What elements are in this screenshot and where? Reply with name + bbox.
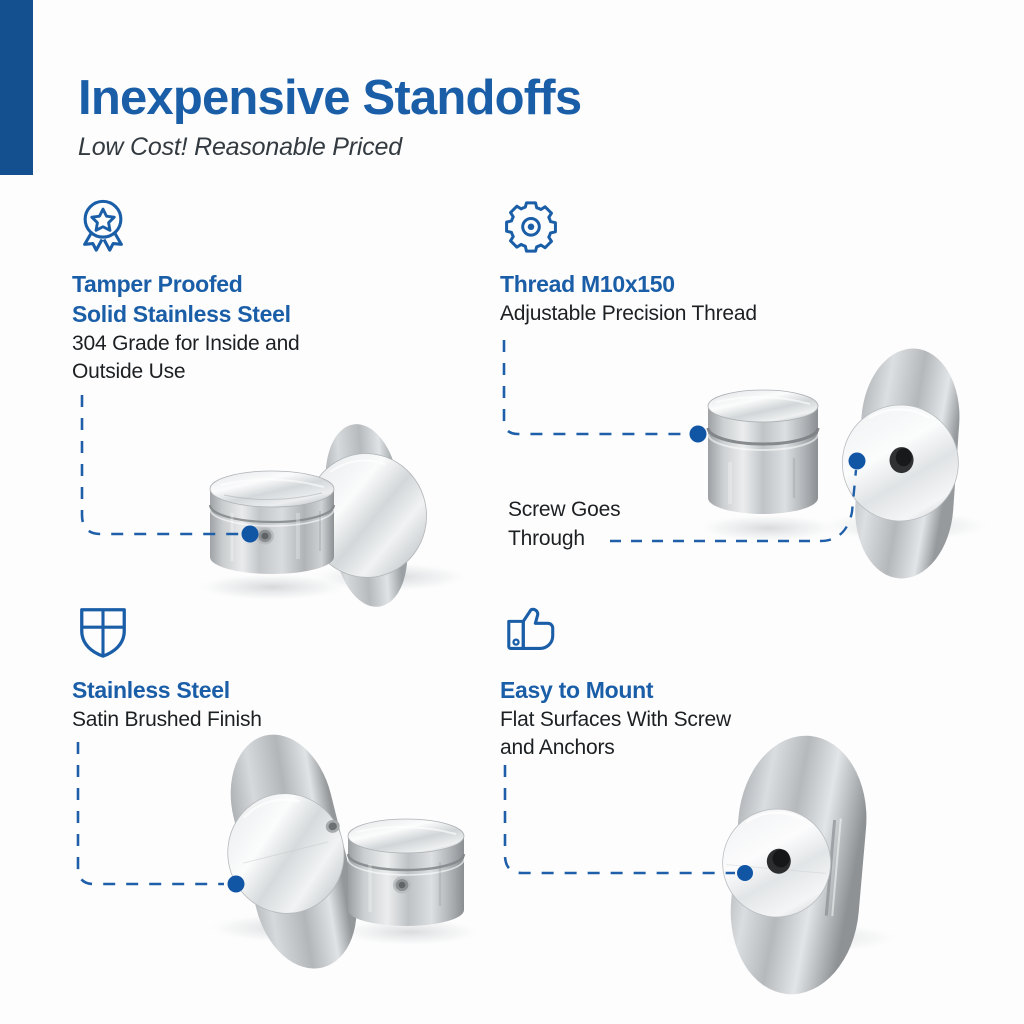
leader-line-thread [504, 340, 690, 434]
photo-easy-to-mount [680, 790, 960, 975]
feature-subtext: Satin Brushed Finish [72, 706, 492, 734]
photo-tamper-proofed [180, 405, 480, 625]
feature-subtext: 304 Grade for Inside and Outside Use [72, 330, 492, 387]
feature-subtext-line2: Outside Use [72, 358, 492, 386]
annotation-line2: Through [508, 524, 620, 553]
feature-subtext-line1: Satin Brushed Finish [72, 706, 492, 734]
header: Inexpensive Standoffs Low Cost! Reasonab… [78, 72, 878, 162]
feature-tamper-proofed: Tamper Proofed Solid Stainless Steel 304… [72, 198, 492, 386]
gear-icon [500, 198, 562, 254]
feature-subtext-line2: and Anchors [500, 734, 930, 762]
feature-thread: Thread M10x150 Adjustable Precision Thre… [500, 198, 930, 328]
feature-heading: Tamper Proofed Solid Stainless Steel [72, 270, 492, 330]
photo-thread [690, 358, 1000, 583]
feature-heading-line1: Tamper Proofed [72, 270, 492, 300]
feature-easy-to-mount: Easy to Mount Flat Surfaces With Screw a… [500, 604, 930, 763]
feature-subtext: Flat Surfaces With Screw and Anchors [500, 706, 930, 763]
feature-subtext-line1: 304 Grade for Inside and [72, 330, 492, 358]
feature-heading-line1: Thread M10x150 [500, 270, 930, 300]
feature-heading: Thread M10x150 [500, 270, 930, 300]
brand-accent-bar [0, 0, 33, 175]
feature-heading-line2: Solid Stainless Steel [72, 300, 492, 330]
infographic-page: Inexpensive Standoffs Low Cost! Reasonab… [0, 0, 1024, 1024]
feature-subtext-line1: Adjustable Precision Thread [500, 300, 930, 328]
page-subtitle: Low Cost! Reasonable Priced [78, 133, 878, 162]
thumbs-up-icon [500, 604, 562, 660]
feature-subtext-line1: Flat Surfaces With Screw [500, 706, 930, 734]
feature-heading-line1: Stainless Steel [72, 676, 492, 706]
annotation-screw-goes-through: Screw Goes Through [508, 495, 620, 554]
feature-heading: Stainless Steel [72, 676, 492, 706]
annotation-line1: Screw Goes [508, 495, 620, 524]
feature-heading: Easy to Mount [500, 676, 930, 706]
shield-icon [72, 604, 134, 660]
feature-subtext: Adjustable Precision Thread [500, 300, 930, 328]
feature-heading-line1: Easy to Mount [500, 676, 930, 706]
page-title: Inexpensive Standoffs [78, 72, 878, 125]
award-badge-icon [72, 198, 134, 254]
photo-stainless-steel [200, 760, 500, 965]
feature-stainless-steel: Stainless Steel Satin Brushed Finish [72, 604, 492, 734]
